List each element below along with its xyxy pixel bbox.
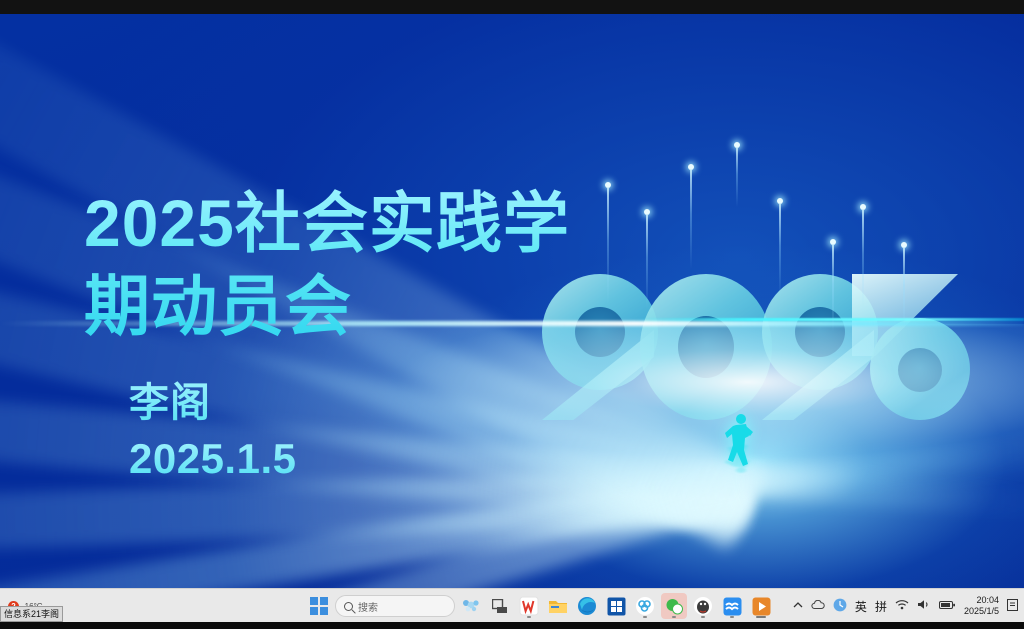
- battery-icon[interactable]: [939, 600, 956, 613]
- top-black-bar: [0, 0, 1024, 14]
- clock-time: 20:04: [976, 595, 999, 605]
- system-tray[interactable]: 英 拼 20:04 2025/1/5: [793, 589, 1018, 623]
- search-input[interactable]: 搜索: [335, 595, 455, 617]
- show-hidden-icons-icon[interactable]: [793, 600, 803, 612]
- taskbar-center-cluster[interactable]: 搜索: [306, 589, 774, 623]
- task-view-icon[interactable]: [487, 593, 513, 619]
- widgets-weather-icon[interactable]: [458, 593, 484, 619]
- onedrive-cloud-icon[interactable]: [811, 600, 825, 613]
- wifi-icon[interactable]: [895, 599, 909, 613]
- qq-icon[interactable]: [690, 593, 716, 619]
- horizon-accent-line: [635, 318, 1024, 321]
- bottom-black-bar: [0, 622, 1024, 629]
- slide-date: 2025.1.5: [129, 435, 297, 483]
- presentation-slide[interactable]: 2025社会实践学 期动员会 李阁 2025.1.5: [0, 14, 1024, 588]
- notification-center-icon[interactable]: [1007, 599, 1018, 614]
- ime-pinyin-indicator[interactable]: 拼: [875, 598, 887, 615]
- windows-logo-icon: [310, 597, 328, 615]
- clock-date: 2025/1/5: [964, 606, 999, 616]
- microsoft-edge-icon[interactable]: [574, 593, 600, 619]
- cloud-sync-icon[interactable]: [632, 593, 658, 619]
- search-placeholder: 搜索: [358, 599, 378, 614]
- xunlei-icon[interactable]: [719, 593, 745, 619]
- taskbar-clock[interactable]: 20:04 2025/1/5: [964, 595, 999, 617]
- microsoft-store-icon[interactable]: [603, 593, 629, 619]
- file-explorer-icon[interactable]: [545, 593, 571, 619]
- network-app-icon[interactable]: [833, 598, 847, 615]
- windows-taskbar[interactable]: 2 -16°C 搜索: [0, 588, 1024, 622]
- volume-icon[interactable]: [917, 599, 931, 613]
- screen: 2025社会实践学 期动员会 李阁 2025.1.5 2 -16°C 搜索: [0, 0, 1024, 629]
- start-button[interactable]: [306, 593, 332, 619]
- wechat-icon[interactable]: [661, 593, 687, 619]
- search-icon: [344, 602, 353, 611]
- taskbar-tooltip: 信息系21李阁: [0, 606, 63, 622]
- slide-presenter: 李阁: [129, 370, 211, 428]
- wps-office-icon[interactable]: [516, 593, 542, 619]
- media-player-icon[interactable]: [748, 593, 774, 619]
- running-figure-reflection: [722, 455, 756, 474]
- ime-language-indicator[interactable]: 英: [855, 598, 867, 615]
- slide-title: 2025社会实践学 期动员会: [84, 182, 604, 348]
